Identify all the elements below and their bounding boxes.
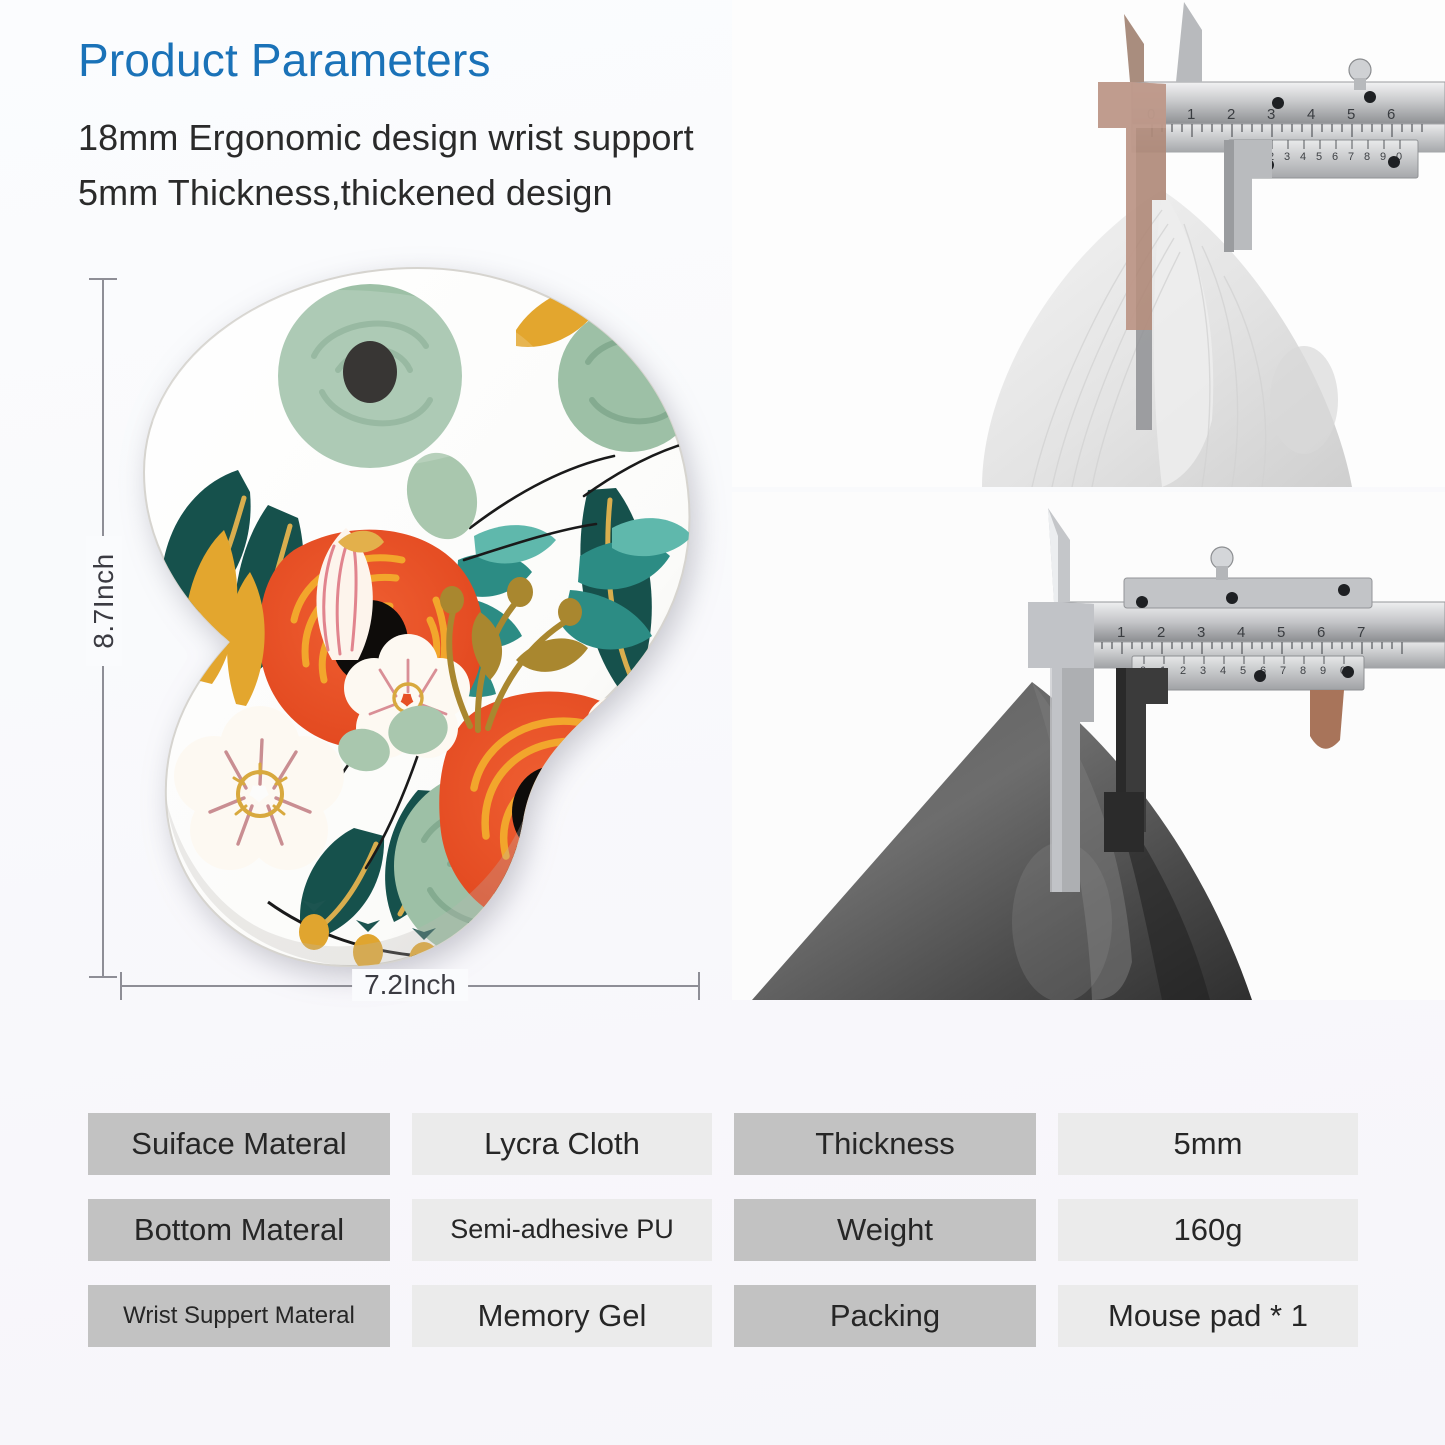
dimension-width-cap-left: [120, 972, 122, 1000]
svg-text:5: 5: [1277, 624, 1285, 641]
svg-text:8: 8: [1364, 151, 1370, 163]
dimension-width: 7.2Inch: [120, 968, 700, 1004]
spec-key-packing: Packing: [734, 1285, 1036, 1347]
infographic-canvas: Product Parameters 18mm Ergonomic design…: [0, 0, 1445, 1445]
svg-text:9: 9: [1380, 151, 1386, 163]
svg-text:2: 2: [1227, 106, 1235, 123]
dimension-height: 8.7Inch: [83, 278, 123, 978]
svg-text:4: 4: [1307, 106, 1315, 123]
svg-text:1: 1: [1187, 106, 1195, 123]
svg-text:5: 5: [1347, 106, 1355, 123]
spec-key-bottom-material: Bottom Materal: [88, 1199, 390, 1261]
spec-key-wrist-support-material: Wrist Suppert Materal: [88, 1285, 390, 1347]
product-figure: [100, 255, 720, 1000]
dimension-width-label: 7.2Inch: [352, 969, 468, 1001]
subtitle-ergonomic: 18mm Ergonomic design wrist support: [78, 117, 694, 159]
svg-text:9: 9: [1320, 665, 1326, 677]
table-row: Suiface Materal Lycra Cloth Thickness 5m…: [88, 1113, 1358, 1175]
spec-value-packing: Mouse pad * 1: [1058, 1285, 1358, 1347]
svg-text:7: 7: [1357, 624, 1365, 641]
svg-text:6: 6: [1332, 151, 1338, 163]
svg-text:7: 7: [1280, 665, 1286, 677]
table-row: Bottom Materal Semi-adhesive PU Weight 1…: [88, 1199, 1358, 1261]
spec-value-bottom-material: Semi-adhesive PU: [412, 1199, 712, 1261]
svg-text:6: 6: [1387, 106, 1395, 123]
dimension-height-cap-bottom: [89, 976, 117, 978]
spec-value-weight: 160g: [1058, 1199, 1358, 1261]
svg-text:3: 3: [1197, 624, 1205, 641]
svg-text:1: 1: [1117, 624, 1125, 641]
dimension-width-cap-right: [698, 972, 700, 1000]
photo-caliper-wrist-rest: 012 345 6 012 345 678 90: [732, 0, 1445, 487]
spec-table: Suiface Materal Lycra Cloth Thickness 5m…: [88, 1113, 1358, 1371]
dimension-height-label: 8.7Inch: [86, 536, 122, 666]
svg-text:7: 7: [1348, 151, 1354, 163]
spec-key-surface-material: Suiface Materal: [88, 1113, 390, 1175]
floral-mousepad-icon: [118, 260, 718, 980]
svg-text:3: 3: [1284, 151, 1290, 163]
spec-key-thickness: Thickness: [734, 1113, 1036, 1175]
spec-key-weight: Weight: [734, 1199, 1036, 1261]
svg-text:5: 5: [1240, 665, 1246, 677]
dimension-height-cap-top: [89, 278, 117, 280]
photo-caliper-mousepad: 012 345 67 012 345 678 90: [732, 492, 1445, 1000]
svg-text:4: 4: [1300, 151, 1306, 163]
svg-text:6: 6: [1317, 624, 1325, 641]
svg-text:4: 4: [1237, 624, 1245, 641]
spec-value-thickness: 5mm: [1058, 1113, 1358, 1175]
subtitle-thickness: 5mm Thickness,thickened design: [78, 172, 613, 214]
page-title: Product Parameters: [78, 33, 491, 87]
svg-text:3: 3: [1200, 665, 1206, 677]
spec-value-wrist-support-material: Memory Gel: [412, 1285, 712, 1347]
svg-text:3: 3: [1267, 106, 1275, 123]
table-row: Wrist Suppert Materal Memory Gel Packing…: [88, 1285, 1358, 1347]
svg-text:2: 2: [1180, 665, 1186, 677]
svg-text:8: 8: [1300, 665, 1306, 677]
svg-text:4: 4: [1220, 665, 1226, 677]
svg-text:2: 2: [1157, 624, 1165, 641]
spec-value-surface-material: Lycra Cloth: [412, 1113, 712, 1175]
svg-text:5: 5: [1316, 151, 1322, 163]
